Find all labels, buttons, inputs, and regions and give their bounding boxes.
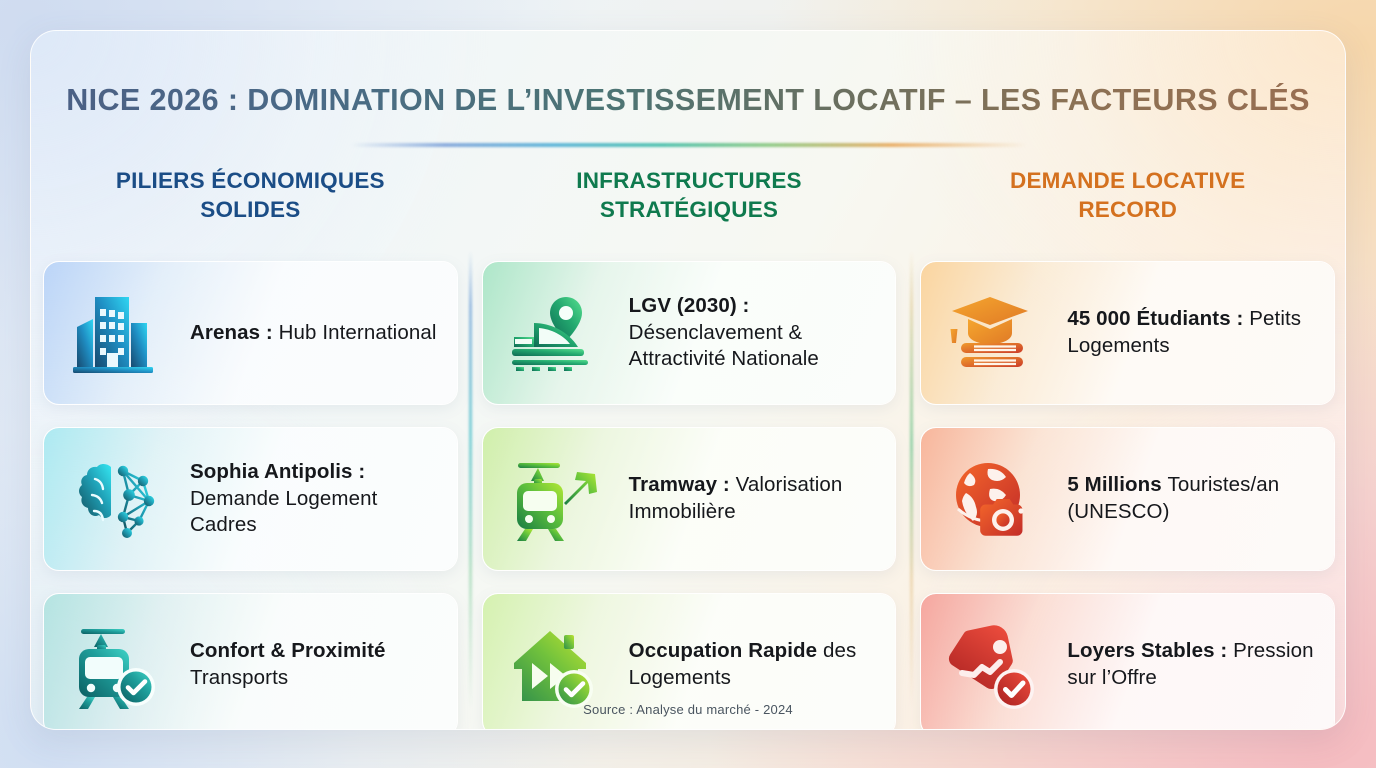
column-heading-2: INFRASTRUCTURES STRATÉGIQUES [482, 167, 897, 229]
card-title-rest: Désenclavement & Attractivité Nationale [629, 321, 819, 371]
card-text: 5 Millions Touristes/an (UNESCO) [1067, 472, 1318, 525]
card-title-rest: Transports [190, 666, 288, 689]
card-list-1: Arenas : Hub International [43, 261, 458, 730]
card-text: Confort & Proximité Transports [190, 638, 441, 691]
card-lgv[interactable]: LGV (2030) : Désenclavement & Attractivi… [482, 261, 897, 405]
column-heading-3: DEMANDE LOCATIVE RECORD [920, 167, 1335, 229]
card-title-bold: LGV (2030) : [629, 294, 750, 317]
card-tourists[interactable]: 5 Millions Touristes/an (UNESCO) [920, 427, 1335, 571]
tram-check-icon [58, 611, 176, 719]
graduation-cap-books-icon [935, 279, 1053, 387]
card-text: Sophia Antipolis : Demande Logement Cadr… [190, 459, 441, 539]
card-title-rest: Hub International [279, 321, 437, 344]
price-tag-check-icon [935, 611, 1053, 719]
card-list-2: LGV (2030) : Désenclavement & Attractivi… [482, 261, 897, 730]
card-list-3: 45 000 Étudiants : Petits Logements [920, 261, 1335, 730]
column-economic-pillars: PILIERS ÉCONOMIQUES SOLIDES [31, 159, 470, 719]
card-text: Occupation Rapide des Logements [629, 638, 880, 691]
main-panel: NICE 2026 : DOMINATION DE L’INVESTISSEME… [30, 30, 1346, 730]
infographic-canvas: NICE 2026 : DOMINATION DE L’INVESTISSEME… [0, 0, 1376, 768]
card-title-bold: Loyers Stables : [1067, 639, 1233, 662]
tram-growth-arrow-icon [497, 445, 615, 553]
column-heading-1: PILIERS ÉCONOMIQUES SOLIDES [43, 167, 458, 229]
card-text: LGV (2030) : Désenclavement & Attractivi… [629, 293, 880, 373]
card-title-rest: Demande Logement Cadres [190, 487, 377, 537]
card-title-bold: Sophia Antipolis : [190, 460, 365, 483]
card-title-bold: 45 000 Étudiants : [1067, 307, 1249, 330]
card-title-bold: Occupation Rapide [629, 639, 823, 662]
source-footer: Source : Analyse du marché - 2024 [31, 702, 1345, 717]
column-infrastructures: INFRASTRUCTURES STRATÉGIQUES [470, 159, 909, 719]
column-rental-demand: DEMANDE LOCATIVE RECORD [908, 159, 1346, 719]
house-fastforward-check-icon [497, 611, 615, 719]
card-arenas[interactable]: Arenas : Hub International [43, 261, 458, 405]
office-building-icon [58, 279, 176, 387]
card-title-bold: Arenas : [190, 321, 279, 344]
card-text: 45 000 Étudiants : Petits Logements [1067, 306, 1318, 359]
card-text: Loyers Stables : Pression sur l’Offre [1067, 638, 1318, 691]
card-text: Arenas : Hub International [190, 320, 441, 347]
card-title-bold: 5 Millions [1067, 473, 1167, 496]
card-tramway[interactable]: Tramway : Valorisation Immobilière [482, 427, 897, 571]
brain-network-icon [58, 445, 176, 553]
globe-camera-icon [935, 445, 1053, 553]
card-sophia-antipolis[interactable]: Sophia Antipolis : Demande Logement Cadr… [43, 427, 458, 571]
high-speed-train-pin-icon [497, 279, 615, 387]
title-gradient-rule [351, 143, 1027, 147]
card-students[interactable]: 45 000 Étudiants : Petits Logements [920, 261, 1335, 405]
card-title-bold: Confort & Proximité [190, 639, 386, 662]
page-title: NICE 2026 : DOMINATION DE L’INVESTISSEME… [31, 83, 1345, 118]
card-title-bold: Tramway : [629, 473, 736, 496]
card-text: Tramway : Valorisation Immobilière [629, 472, 880, 525]
columns-container: PILIERS ÉCONOMIQUES SOLIDES [31, 159, 1346, 719]
